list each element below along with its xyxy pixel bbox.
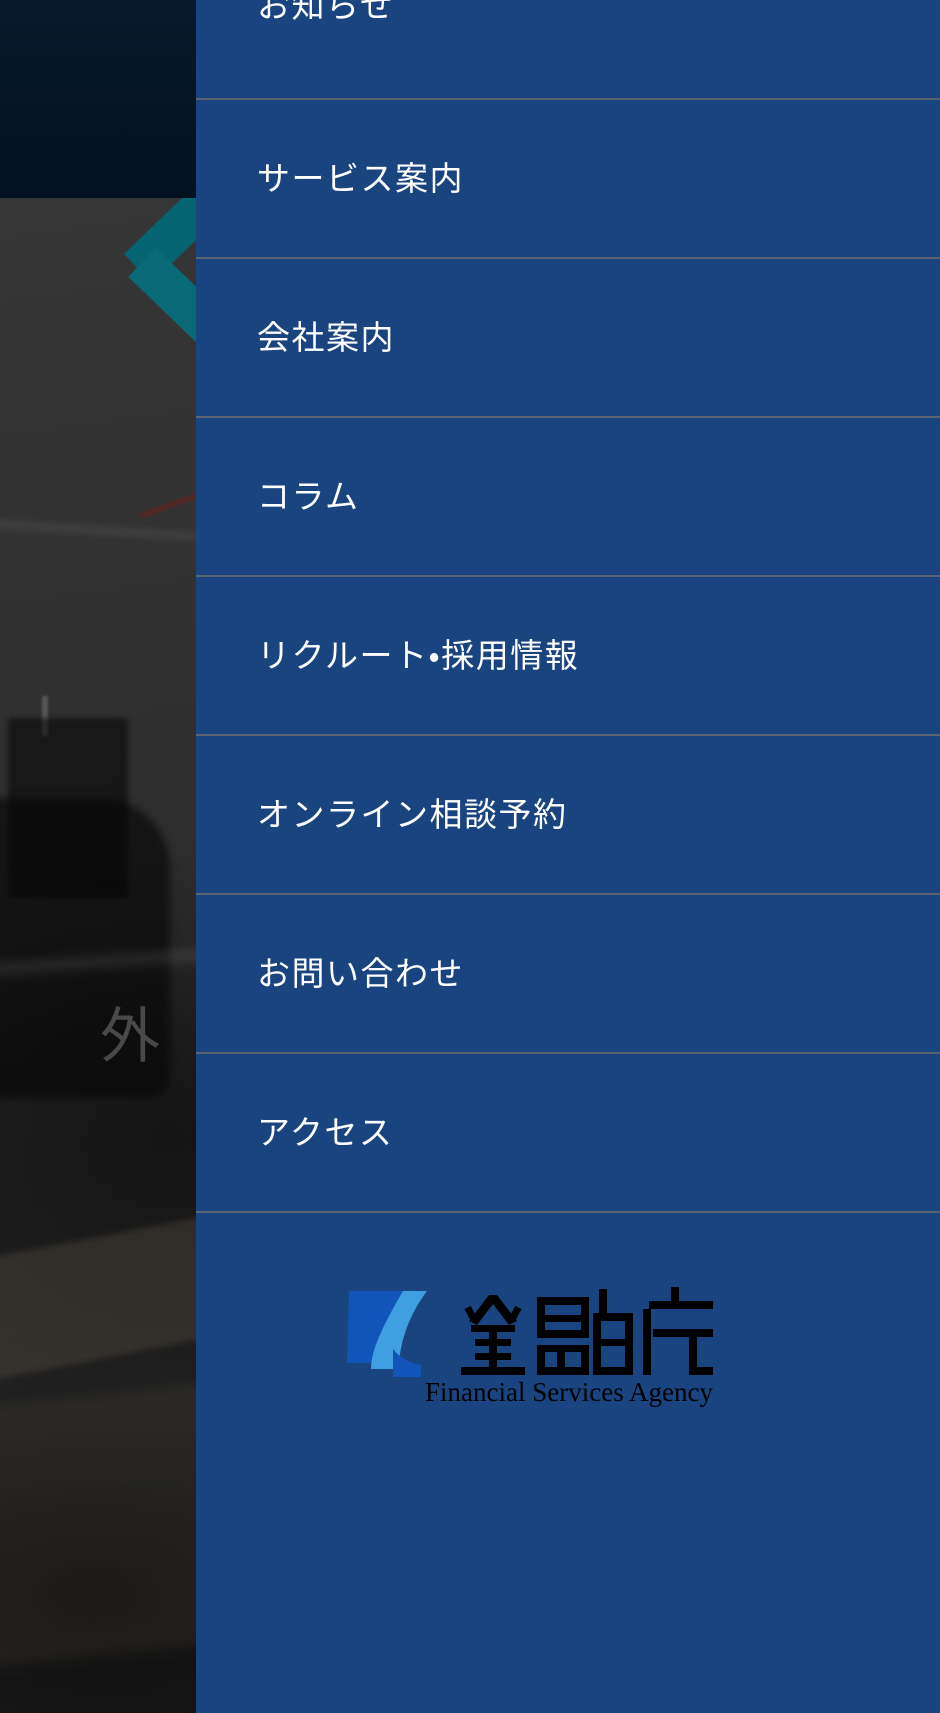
fsa-english-label: Financial Services Agency [425, 1377, 713, 1407]
nav-item-column[interactable]: コラム [196, 418, 940, 577]
nav-item-label: リクルート・採用情報 [257, 636, 579, 676]
nav-item-news[interactable]: お知らせ [196, 0, 940, 100]
nav-item-services[interactable]: サービス案内 [196, 100, 940, 259]
screen: ビス」 ださい 外 お知らせ [0, 0, 940, 1713]
nav-item-label: コラム [257, 477, 360, 517]
nav-item-label: 会社案内 [257, 318, 395, 358]
nav-item-label: サービス案内 [257, 159, 464, 199]
fsa-logo-block[interactable]: Financial Services Agency [196, 1213, 940, 1615]
nav-item-label: アクセス [257, 1113, 393, 1153]
photo-overlay-heading: 外 [100, 988, 164, 1075]
nav-item-company[interactable]: 会社案内 [196, 259, 940, 418]
mobile-nav-drawer: お知らせ サービス案内 会社案内 コラム リクルート・採用情報 オンライン相談予… [196, 0, 940, 1713]
nav-list: お知らせ サービス案内 会社案内 コラム リクルート・採用情報 オンライン相談予… [196, 0, 940, 1213]
fsa-logo: Financial Services Agency [341, 1277, 796, 1407]
nav-item-online-consultation[interactable]: オンライン相談予約 [196, 736, 940, 895]
nav-item-recruit[interactable]: リクルート・採用情報 [196, 577, 940, 736]
nav-item-contact[interactable]: お問い合わせ [196, 895, 940, 1054]
nav-item-label: お問い合わせ [257, 954, 464, 994]
nav-item-label: オンライン相談予約 [257, 795, 568, 835]
nav-item-label: お知らせ [257, 0, 394, 26]
nav-item-access[interactable]: アクセス [196, 1054, 940, 1213]
